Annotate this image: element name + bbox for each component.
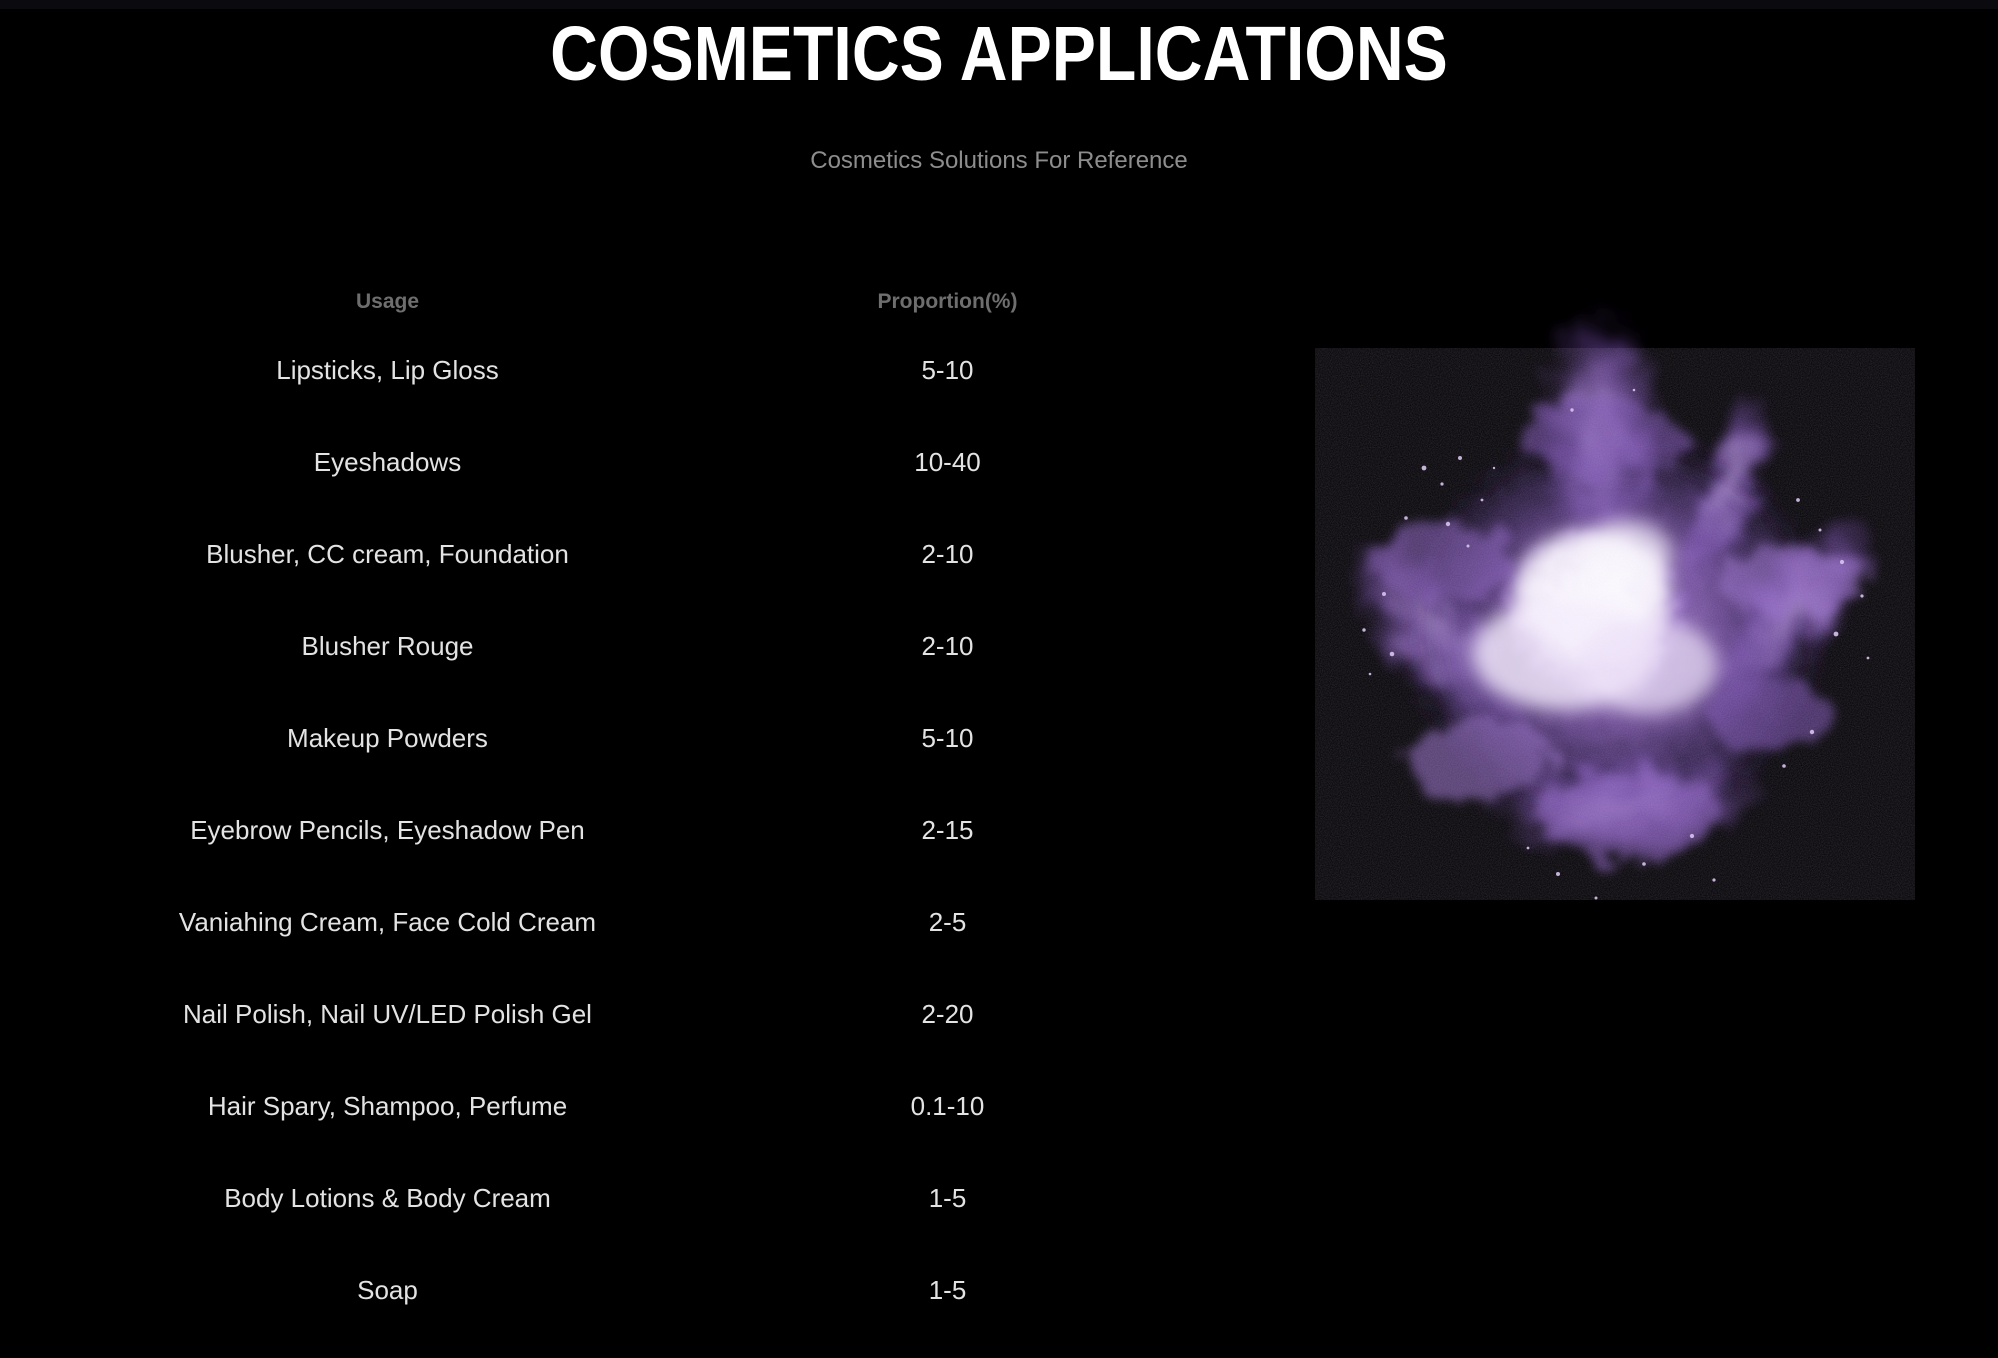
table-row: Lipsticks, Lip Gloss5-10 (60, 324, 1180, 416)
cell-proportion: 5-10 (715, 692, 1180, 784)
cell-proportion: 5-10 (715, 324, 1180, 416)
page-subtitle: Cosmetics Solutions For Reference (0, 145, 1998, 176)
cell-proportion: 10-40 (715, 416, 1180, 508)
column-header-proportion: Proportion(%) (715, 288, 1180, 324)
top-strip (0, 0, 1998, 9)
table-row: Hair Spary, Shampoo, Perfume0.1-10 (60, 1060, 1180, 1152)
cell-usage: Vaniahing Cream, Face Cold Cream (60, 876, 715, 968)
table-body: Lipsticks, Lip Gloss5-10Eyeshadows10-40B… (60, 324, 1180, 1336)
table-row: Blusher Rouge2-10 (60, 600, 1180, 692)
cell-proportion: 2-20 (715, 968, 1180, 1060)
cell-proportion: 2-10 (715, 600, 1180, 692)
table-row: Nail Polish, Nail UV/LED Polish Gel2-20 (60, 968, 1180, 1060)
cell-proportion: 2-10 (715, 508, 1180, 600)
table-row: Eyebrow Pencils, Eyeshadow Pen2-15 (60, 784, 1180, 876)
cell-usage: Blusher, CC cream, Foundation (60, 508, 715, 600)
page-title: COSMETICS APPLICATIONS (140, 14, 1858, 95)
cell-proportion: 1-5 (715, 1152, 1180, 1244)
cell-usage: Eyeshadows (60, 416, 715, 508)
cell-usage: Body Lotions & Body Cream (60, 1152, 715, 1244)
column-header-usage: Usage (60, 288, 715, 324)
cell-usage: Soap (60, 1244, 715, 1336)
cell-proportion: 1-5 (715, 1244, 1180, 1336)
table-header-row: Usage Proportion(%) (60, 288, 1180, 324)
cell-proportion: 2-15 (715, 784, 1180, 876)
table-row: Eyeshadows10-40 (60, 416, 1180, 508)
cell-proportion: 0.1-10 (715, 1060, 1180, 1152)
table-row: Makeup Powders5-10 (60, 692, 1180, 784)
cell-usage: Blusher Rouge (60, 600, 715, 692)
cell-usage: Hair Spary, Shampoo, Perfume (60, 1060, 715, 1152)
cell-usage: Lipsticks, Lip Gloss (60, 324, 715, 416)
cell-proportion: 2-5 (715, 876, 1180, 968)
cell-usage: Nail Polish, Nail UV/LED Polish Gel (60, 968, 715, 1060)
table-row: Blusher, CC cream, Foundation2-10 (60, 508, 1180, 600)
product-image-panel (1296, 262, 1934, 956)
applications-table-wrapper: Usage Proportion(%) Lipsticks, Lip Gloss… (60, 288, 1180, 1336)
table-row: Body Lotions & Body Cream1-5 (60, 1152, 1180, 1244)
applications-table: Usage Proportion(%) Lipsticks, Lip Gloss… (60, 288, 1180, 1336)
table-head: Usage Proportion(%) (60, 288, 1180, 324)
powder-explosion-image (1296, 262, 1934, 956)
cell-usage: Makeup Powders (60, 692, 715, 784)
table-row: Vaniahing Cream, Face Cold Cream2-5 (60, 876, 1180, 968)
cell-usage: Eyebrow Pencils, Eyeshadow Pen (60, 784, 715, 876)
table-row: Soap1-5 (60, 1244, 1180, 1336)
page-root: COSMETICS APPLICATIONS Cosmetics Solutio… (0, 0, 1998, 1358)
